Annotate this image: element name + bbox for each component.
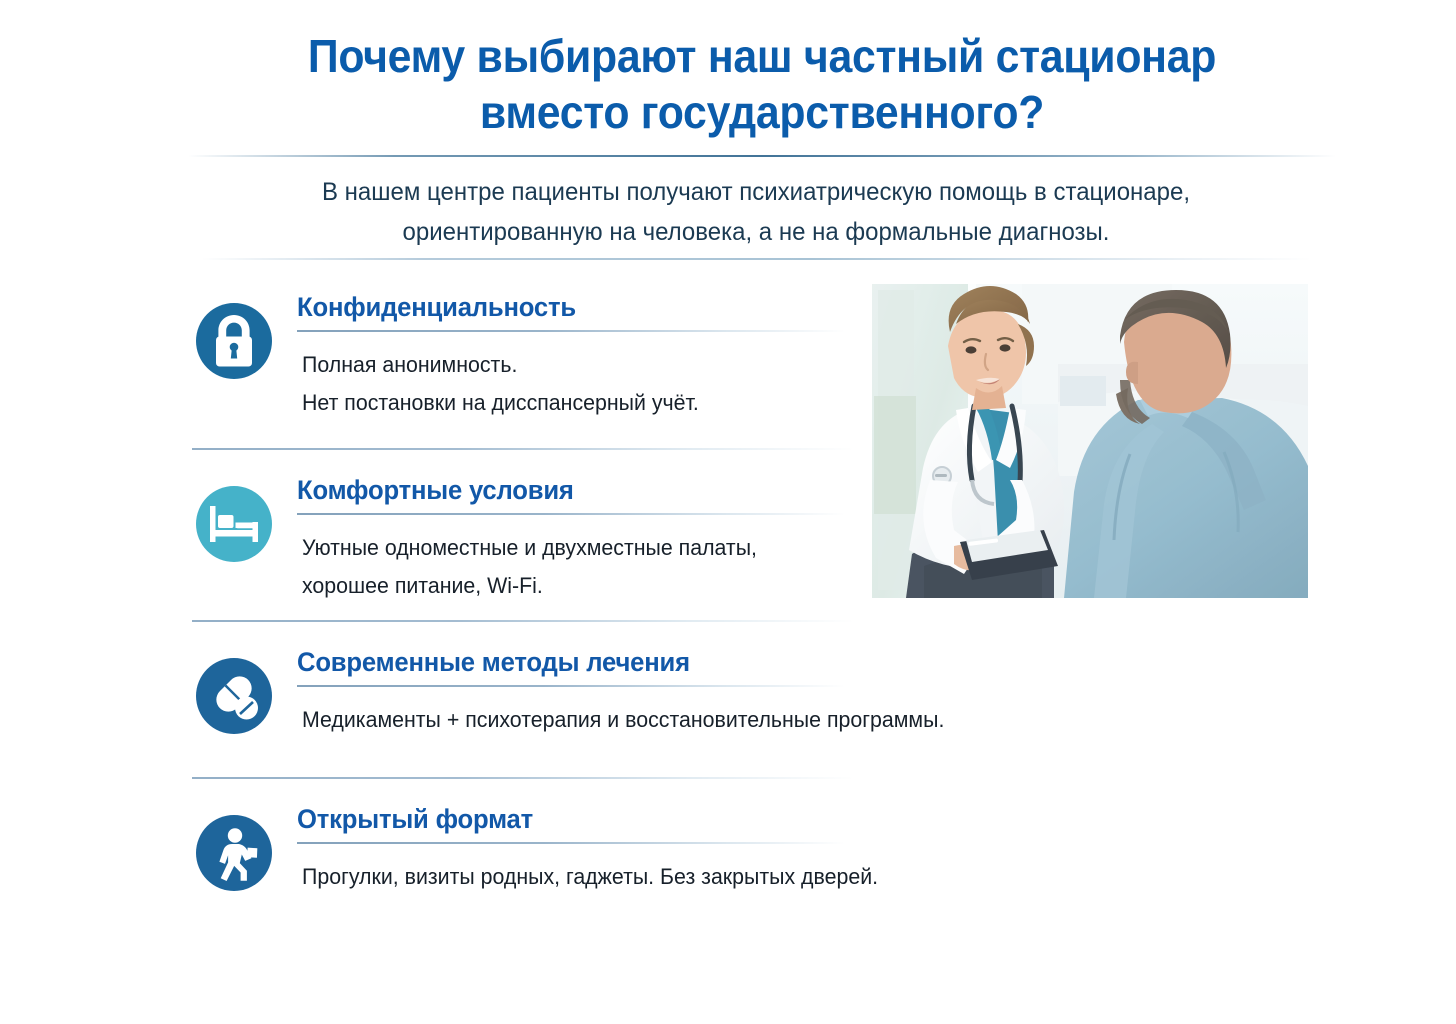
title-divider xyxy=(188,155,1336,157)
feature-item-confidentiality: Конфиденциальность Полная анонимность. Н… xyxy=(192,290,852,422)
feature-description-line: Уютные одноместные и двухместные палаты, xyxy=(302,529,836,567)
feature-heading-underline xyxy=(297,842,845,844)
feature-description: Полная анонимность. Нет постановки на ди… xyxy=(302,346,836,422)
feature-description: Уютные одноместные и двухместные палаты,… xyxy=(302,529,836,605)
feature-description-line: Медикаменты + психотерапия и восстановит… xyxy=(302,701,836,739)
feature-description-line: Полная анонимность. xyxy=(302,346,836,384)
feature-description: Медикаменты + психотерапия и восстановит… xyxy=(302,701,836,739)
feature-heading-underline xyxy=(297,513,845,515)
feature-description-line: хорошее питание, Wi-Fi. xyxy=(302,567,836,605)
slide-root: Почему выбирают наш частный стационар вм… xyxy=(0,0,1456,1024)
feature-body: Современные методы лечения Медикаменты +… xyxy=(297,645,852,739)
feature-description: Прогулки, визиты родных, гаджеты. Без за… xyxy=(302,858,836,896)
pills-icon xyxy=(194,656,274,736)
feature-heading-underline xyxy=(297,330,845,332)
feature-body: Открытый формат Прогулки, визиты родных,… xyxy=(297,802,852,896)
feature-separator xyxy=(192,448,854,450)
feature-heading-underline xyxy=(297,685,845,687)
feature-description-line: Прогулки, визиты родных, гаджеты. Без за… xyxy=(302,858,836,896)
feature-item-open-format: Открытый формат Прогулки, визиты родных,… xyxy=(192,802,852,896)
subtitle-line-1: В нашем центре пациенты получают психиат… xyxy=(218,172,1293,212)
bed-icon xyxy=(194,484,274,564)
feature-heading: Открытый формат xyxy=(297,802,824,836)
subtitle-divider xyxy=(202,258,1312,260)
feature-body: Конфиденциальность Полная анонимность. Н… xyxy=(297,290,852,422)
page-title-line-1: Почему выбирают наш частный стационар xyxy=(228,28,1296,84)
page-title-line-2: вместо государственного? xyxy=(228,84,1296,140)
lock-icon xyxy=(194,301,274,381)
feature-heading: Комфортные условия xyxy=(297,473,824,507)
feature-item-modern-treatment: Современные методы лечения Медикаменты +… xyxy=(192,645,852,739)
subtitle: В нашем центре пациенты получают психиат… xyxy=(218,172,1293,252)
page-title: Почему выбирают наш частный стационар вм… xyxy=(188,28,1336,140)
feature-separator xyxy=(192,620,854,622)
subtitle-line-2: ориентированную на человека, а не на фор… xyxy=(218,212,1293,252)
feature-heading: Современные методы лечения xyxy=(297,645,824,679)
doctor-patient-photo: Врач в белом халате со стетоскопом бесед… xyxy=(872,284,1308,598)
feature-heading: Конфиденциальность xyxy=(297,290,824,324)
feature-body: Комфортные условия Уютные одноместные и … xyxy=(297,473,852,605)
feature-item-comfort: Комфортные условия Уютные одноместные и … xyxy=(192,473,852,605)
feature-separator xyxy=(192,777,854,779)
feature-description-line: Нет постановки на дисспансерный учёт. xyxy=(302,384,836,422)
walking-person-icon xyxy=(194,813,274,893)
